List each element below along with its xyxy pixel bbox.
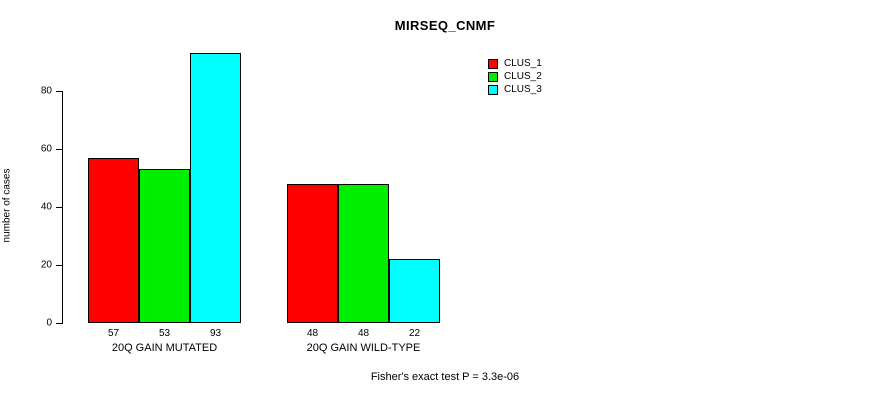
y-tick-label: 0: [22, 318, 52, 329]
bar-value-label: 48: [307, 328, 318, 339]
statistical-test-annotation: Fisher's exact test P = 3.3e-06: [0, 371, 890, 383]
bar-value-label: 93: [210, 328, 221, 339]
y-tick-mark: [56, 207, 62, 208]
x-axis-group-label: 20Q GAIN WILD-TYPE: [307, 342, 421, 354]
bar-value-label: 53: [159, 328, 170, 339]
y-tick-mark: [56, 91, 62, 92]
legend-item: CLUS_1: [488, 57, 542, 70]
chart-container: MIRSEQ_CNMF 020406080 number of cases 57…: [0, 0, 890, 400]
y-tick-label: 80: [22, 86, 52, 97]
legend-item: CLUS_3: [488, 83, 542, 96]
y-axis-title: number of cases: [2, 136, 13, 276]
bar-value-label: 22: [409, 328, 420, 339]
legend-item: CLUS_2: [488, 70, 542, 83]
bar: [389, 259, 440, 323]
legend-swatch-clus-1: [488, 59, 498, 69]
bar: [190, 53, 241, 323]
bar: [287, 184, 338, 323]
bar-value-label: 48: [358, 328, 369, 339]
y-tick-label: 40: [22, 202, 52, 213]
x-axis-group-label: 20Q GAIN MUTATED: [112, 342, 217, 354]
y-tick-mark: [56, 149, 62, 150]
bar: [338, 184, 389, 323]
legend-label-clus-3: CLUS_3: [504, 83, 542, 96]
legend-label-clus-1: CLUS_1: [504, 57, 542, 70]
bar: [88, 158, 139, 323]
legend-swatch-clus-2: [488, 72, 498, 82]
bar: [139, 169, 190, 323]
y-tick-label: 60: [22, 144, 52, 155]
legend: CLUS_1 CLUS_2 CLUS_3: [488, 57, 542, 96]
y-axis-line: [62, 91, 63, 324]
bar-value-label: 57: [108, 328, 119, 339]
y-tick-label: 20: [22, 260, 52, 271]
legend-swatch-clus-3: [488, 85, 498, 95]
y-tick-mark: [56, 323, 62, 324]
legend-label-clus-2: CLUS_2: [504, 70, 542, 83]
chart-title: MIRSEQ_CNMF: [0, 18, 890, 33]
y-tick-mark: [56, 265, 62, 266]
